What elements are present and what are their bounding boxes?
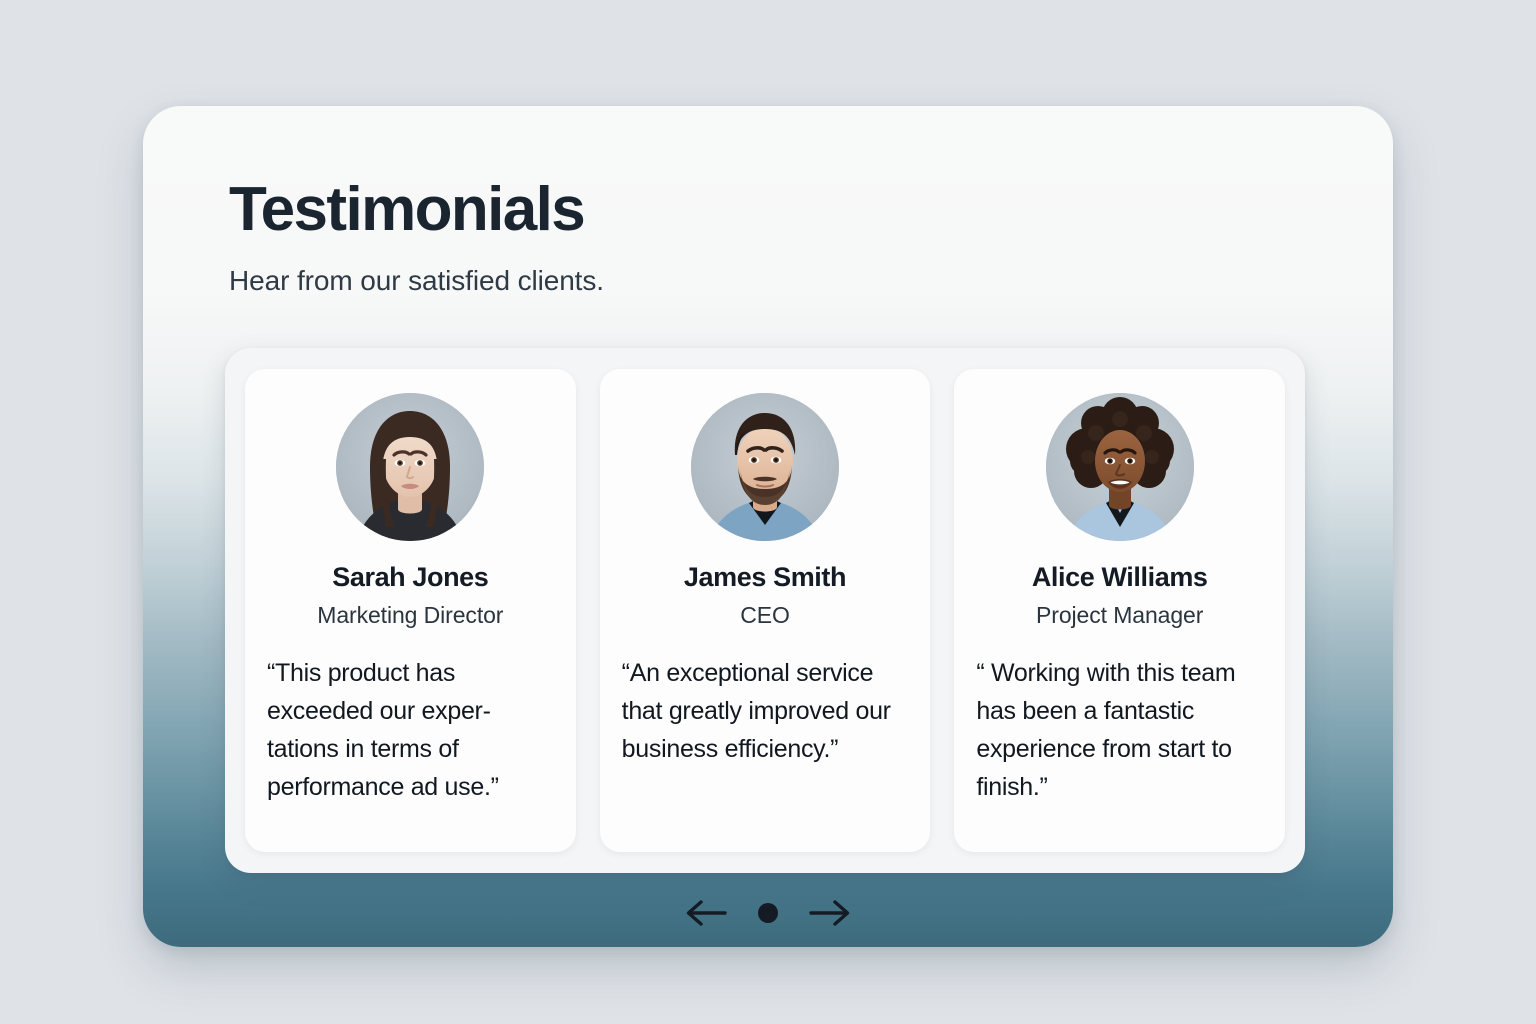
carousel-next-button[interactable]	[808, 896, 852, 930]
header: Testimonials Hear from our satisfied cli…	[229, 178, 1129, 298]
person-name: James Smith	[684, 563, 846, 593]
testimonial-quote: “This product has exceeded our exper- ta…	[267, 654, 554, 806]
testimonial-card[interactable]: Alice Williams Project Manager “ Working…	[954, 369, 1285, 852]
person-name: Sarah Jones	[332, 563, 488, 593]
avatar-photo-alice-williams	[1046, 393, 1194, 541]
page-subtitle: Hear from our satisfied clients.	[229, 264, 1129, 298]
carousel-controls	[143, 896, 1393, 930]
arrow-left-icon	[684, 898, 728, 928]
arrow-right-icon	[808, 898, 852, 928]
testimonials-panel: Testimonials Hear from our satisfied cli…	[143, 106, 1393, 947]
person-role: Project Manager	[1036, 603, 1203, 628]
avatar-photo-james-smith	[691, 393, 839, 541]
avatar-photo-sarah-jones	[336, 393, 484, 541]
page-title: Testimonials	[229, 178, 1129, 242]
person-name: Alice Williams	[1032, 563, 1208, 593]
carousel-dot-1[interactable]	[758, 903, 778, 923]
testimonial-quote: “An exceptional service that greatly imp…	[622, 654, 909, 768]
testimonial-card[interactable]: Sarah Jones Marketing Director “This pro…	[245, 369, 576, 852]
person-role: Marketing Director	[317, 603, 503, 628]
testimonial-card[interactable]: James Smith CEO “An exceptional service …	[600, 369, 931, 852]
carousel-prev-button[interactable]	[684, 896, 728, 930]
testimonials-carousel-track: Sarah Jones Marketing Director “This pro…	[225, 348, 1305, 873]
testimonial-quote: “ Working with this team has been a fant…	[976, 654, 1263, 806]
person-role: CEO	[740, 603, 790, 628]
